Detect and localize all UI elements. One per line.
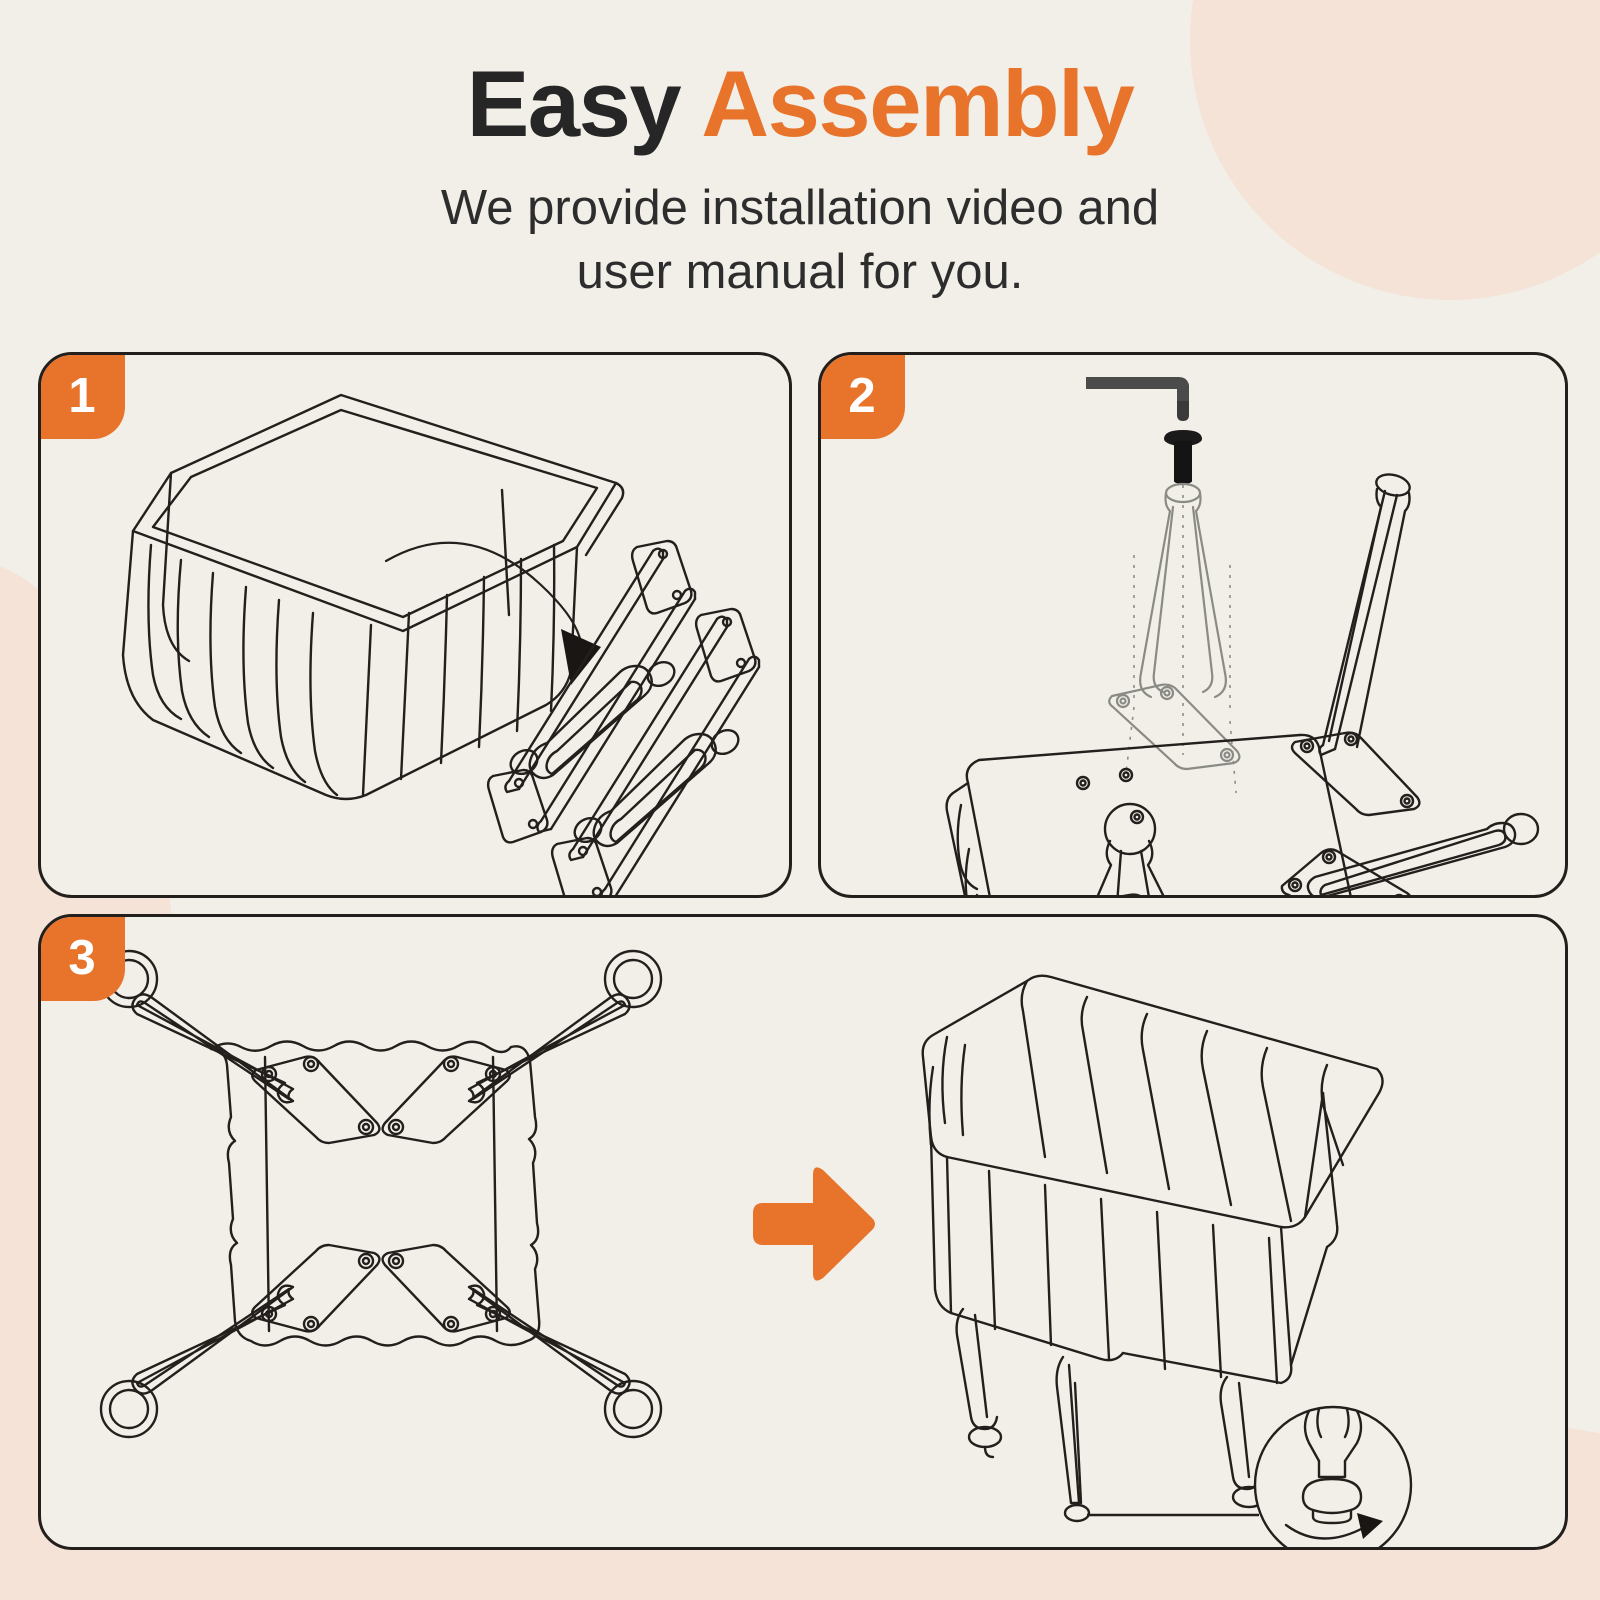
foot-detail-callout: [1255, 1407, 1411, 1547]
bolt-icon: [1164, 430, 1202, 484]
step-card-2: 2: [818, 352, 1568, 898]
step-1-drawing: [41, 355, 789, 895]
step-badge-3: 3: [39, 915, 125, 1001]
step-badge-2: 2: [819, 353, 905, 439]
step-card-3: 3: [38, 914, 1568, 1550]
step-badge-1: 1: [39, 353, 125, 439]
page-title: Easy Assembly: [0, 55, 1600, 154]
step-2-illustration: [821, 355, 1565, 895]
subtitle: We provide installation video and user m…: [0, 176, 1600, 305]
step-card-1: 1: [38, 352, 792, 898]
step-2-drawing: [821, 355, 1565, 895]
allen-key-icon: [1086, 377, 1189, 421]
subtitle-line-2: user manual for you.: [577, 245, 1024, 299]
exploded-leg: [1109, 484, 1239, 769]
title-assembly: Assembly: [701, 51, 1133, 156]
header: Easy Assembly We provide installation vi…: [0, 55, 1600, 305]
arrowhead-step1: [561, 629, 601, 685]
step-3-drawing: [41, 917, 1565, 1547]
arrow-right-icon: [753, 1167, 875, 1280]
title-easy: Easy: [467, 51, 702, 156]
step-1-illustration: [41, 355, 789, 895]
assembly-infographic: Easy Assembly We provide installation vi…: [0, 0, 1600, 1600]
step-3-illustration: [41, 917, 1565, 1547]
subtitle-line-1: We provide installation video and: [441, 181, 1159, 235]
